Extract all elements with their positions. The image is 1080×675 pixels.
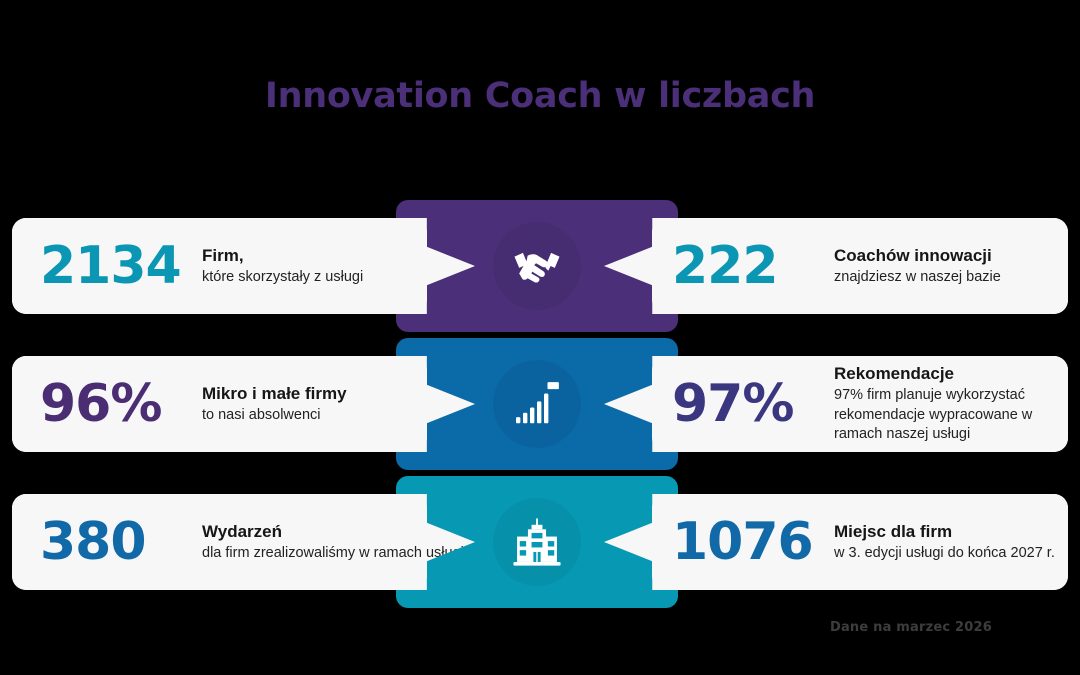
- stat-text-block: Miejsc dla firm w 3. edycji usługi do ko…: [834, 521, 1068, 564]
- infographic-canvas: Innovation Coach w liczbach 2134 Firm, k…: [0, 0, 1080, 675]
- stat-card-right: 1076 Miejsc dla firm w 3. edycji usługi …: [604, 494, 1068, 590]
- stat-title: Coachów innowacji: [834, 245, 1068, 266]
- stat-row: 2134 Firm, które skorzystały z usługi 22…: [0, 200, 1080, 332]
- stat-number: 222: [672, 240, 812, 292]
- footer-note: Dane na marzec 2026: [830, 620, 992, 635]
- stat-text-block: Firm, które skorzystały z usługi: [202, 245, 475, 288]
- stat-card-right: 222 Coachów innowacji znajdziesz w nasze…: [604, 218, 1068, 314]
- page-title: Innovation Coach w liczbach: [0, 76, 1080, 116]
- stat-card-left: 380 Wydarzeń dla firm zrealizowaliśmy w …: [12, 494, 475, 590]
- stat-title: Rekomendacje: [834, 363, 1068, 384]
- stat-description: 97% firm planuje wykorzystać rekomendacj…: [834, 386, 1068, 445]
- office-building-icon: [505, 510, 569, 574]
- handshake-icon: [505, 234, 569, 298]
- stat-description: w 3. edycji usługi do końca 2027 r.: [834, 544, 1068, 564]
- stat-text-block: Mikro i małe firmy to nasi absolwenci: [202, 383, 475, 426]
- stat-number: 1076: [672, 516, 812, 568]
- stat-text-block: Coachów innowacji znajdziesz w naszej ba…: [834, 245, 1068, 288]
- stat-card-right: 97% Rekomendacje 97% firm planuje wykorz…: [604, 356, 1068, 452]
- stat-number: 97%: [672, 378, 812, 430]
- stat-text-block: Rekomendacje 97% firm planuje wykorzysta…: [834, 363, 1068, 445]
- stat-description: znajdziesz w naszej bazie: [834, 268, 1068, 288]
- stat-number: 96%: [40, 378, 180, 430]
- growth-chart-flag-icon: [505, 372, 569, 436]
- stat-row: 96% Mikro i małe firmy to nasi absolwenc…: [0, 338, 1080, 470]
- stat-number: 380: [40, 516, 180, 568]
- stat-number: 2134: [40, 240, 180, 292]
- stat-title: Miejsc dla firm: [834, 521, 1068, 542]
- stat-row: 380 Wydarzeń dla firm zrealizowaliśmy w …: [0, 476, 1080, 608]
- stat-text-block: Wydarzeń dla firm zrealizowaliśmy w rama…: [202, 521, 475, 564]
- stat-card-left: 96% Mikro i małe firmy to nasi absolwenc…: [12, 356, 475, 452]
- stat-card-left: 2134 Firm, które skorzystały z usługi: [12, 218, 475, 314]
